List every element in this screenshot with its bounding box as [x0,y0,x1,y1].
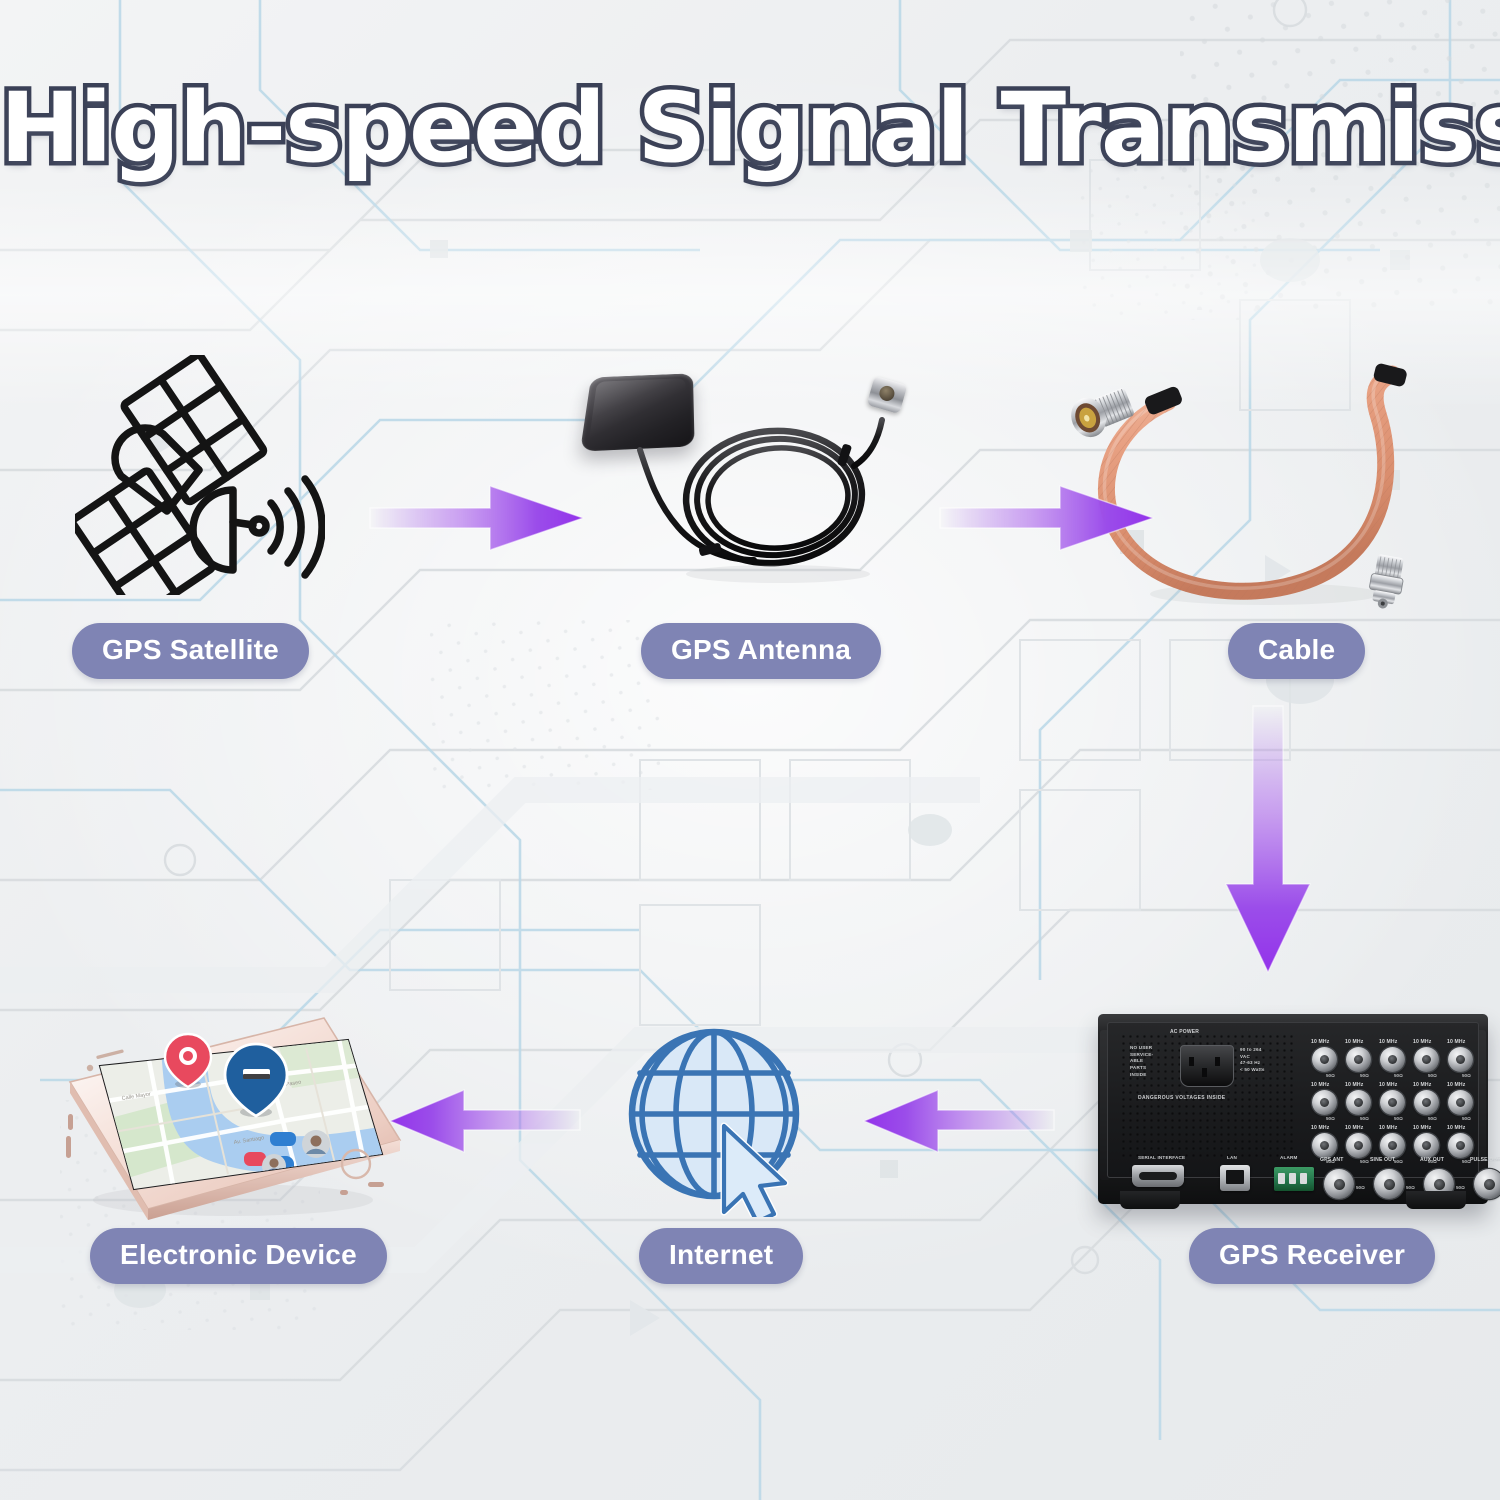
bnc-connector-r1c3[interactable] [1380,1047,1405,1072]
alarm-terminal-block [1274,1167,1314,1191]
bnc-label-r1c5: 10 MHz [1447,1039,1465,1045]
service-warning-text: NO USER SERVICE- ABLE PARTS INSIDE [1130,1045,1174,1078]
bnc-impedance-r1c4: 50Ω [1428,1073,1437,1078]
bnc-label-r3c5: 10 MHz [1447,1125,1465,1131]
globe-cursor-icon [612,1022,832,1217]
bnc-connector-r2c5[interactable] [1448,1090,1473,1115]
port-label-pulse-out: PULSE OUT [1470,1157,1500,1163]
label-gps-antenna: GPS Antenna [641,623,881,679]
chassis-foot-right [1406,1191,1466,1209]
arrow-receiver-to-internet [862,1088,1054,1154]
satellite-icon [75,355,325,595]
bnc-label-r2c1: 10 MHz [1311,1082,1329,1088]
bnc-connector-r2c1[interactable] [1312,1090,1337,1115]
voltage-spec-text: 90 to 264 VAC 47-63 Hz < 50 Watts [1240,1047,1288,1074]
bnc-impedance-r1c2: 50Ω [1360,1073,1369,1078]
bnc-impedance-r2c1: 50Ω [1326,1116,1335,1121]
page-title: High-speed Signal Transmission [0,78,1500,179]
lan-label: LAN [1227,1155,1237,1162]
bnc-label-r2c3: 10 MHz [1379,1082,1397,1088]
bnc-impedance-r2c5: 50Ω [1462,1116,1471,1121]
label-gps-receiver: GPS Receiver [1189,1228,1435,1284]
label-internet: Internet [639,1228,803,1284]
bnc-label-r1c2: 10 MHz [1345,1039,1363,1045]
port-sine-out[interactable] [1374,1169,1404,1199]
patch-antenna-icon [578,362,918,592]
smartphone-map-icon: Calle Mayor Av. Santiago Paseo [48,1004,408,1224]
bnc-connector-r3c2[interactable] [1346,1133,1371,1158]
arrow-internet-to-device [388,1088,580,1154]
danger-warning-text: DANGEROUS VOLTAGES INSIDE [1138,1095,1225,1102]
receiver-chassis: AC POWER NO USER SERVICE- ABLE PARTS INS… [1098,1014,1488,1204]
port-impedance-2: 50Ω [1406,1185,1415,1190]
bnc-impedance-r3c2: 50Ω [1360,1159,1369,1164]
port-label-sine-out: SINE OUT [1370,1157,1395,1163]
serial-db9-port [1132,1165,1184,1187]
arrow-antenna-to-cable [940,483,1155,553]
arrow-cable-to-receiver [1222,706,1314,974]
lan-rj45-port [1220,1165,1250,1191]
port-label-aux-out: AUX OUT [1420,1157,1444,1163]
bnc-connector-r3c4[interactable] [1414,1133,1439,1158]
bnc-impedance-r3c3: 50Ω [1394,1159,1403,1164]
bnc-label-r3c2: 10 MHz [1345,1125,1363,1131]
port-pulse-out[interactable] [1474,1169,1500,1199]
bnc-connector-r3c5[interactable] [1448,1133,1473,1158]
iec-power-inlet [1180,1045,1234,1087]
bnc-label-r3c3: 10 MHz [1379,1125,1397,1131]
port-gps-ant[interactable] [1324,1169,1354,1199]
bnc-impedance-r1c1: 50Ω [1326,1073,1335,1078]
bnc-impedance-r2c3: 50Ω [1394,1116,1403,1121]
label-electronic-device: Electronic Device [90,1228,387,1284]
bnc-label-r3c4: 10 MHz [1413,1125,1431,1131]
bnc-label-r1c3: 10 MHz [1379,1039,1397,1045]
bnc-connector-r2c3[interactable] [1380,1090,1405,1115]
port-label-gps-ant: GPS ANT [1320,1157,1344,1163]
rack-receiver-icon: AC POWER NO USER SERVICE- ABLE PARTS INS… [1098,1014,1488,1204]
bnc-label-r2c4: 10 MHz [1413,1082,1431,1088]
bnc-connector-r1c4[interactable] [1414,1047,1439,1072]
bnc-connector-r2c4[interactable] [1414,1090,1439,1115]
bnc-impedance-r1c5: 50Ω [1462,1073,1471,1078]
bnc-connector-r2c2[interactable] [1346,1090,1371,1115]
bnc-impedance-r2c4: 50Ω [1428,1116,1437,1121]
alarm-label: ALARM [1280,1155,1298,1162]
chassis-foot-left [1120,1191,1180,1209]
bnc-impedance-r2c2: 50Ω [1360,1116,1369,1121]
bnc-label-r1c4: 10 MHz [1413,1039,1431,1045]
bnc-connector-r1c5[interactable] [1448,1047,1473,1072]
bnc-label-r2c2: 10 MHz [1345,1082,1363,1088]
bnc-connector-r3c1[interactable] [1312,1133,1337,1158]
ac-power-label: AC POWER [1170,1029,1199,1036]
serial-interface-label: SERIAL INTERFACE [1138,1155,1185,1162]
bnc-connector-r1c2[interactable] [1346,1047,1371,1072]
bnc-label-r2c5: 10 MHz [1447,1082,1465,1088]
label-gps-satellite: GPS Satellite [72,623,309,679]
bnc-label-r1c1: 10 MHz [1311,1039,1329,1045]
bnc-impedance-r1c3: 50Ω [1394,1073,1403,1078]
receiver-rear-panel: AC POWER NO USER SERVICE- ABLE PARTS INS… [1107,1022,1479,1178]
bnc-label-r3c1: 10 MHz [1311,1125,1329,1131]
label-cable: Cable [1228,623,1365,679]
bnc-connector-r1c1[interactable] [1312,1047,1337,1072]
arrow-satellite-to-antenna [370,483,585,553]
port-impedance-1: 50Ω [1356,1185,1365,1190]
port-impedance-3: 50Ω [1456,1185,1465,1190]
bnc-connector-r3c3[interactable] [1380,1133,1405,1158]
